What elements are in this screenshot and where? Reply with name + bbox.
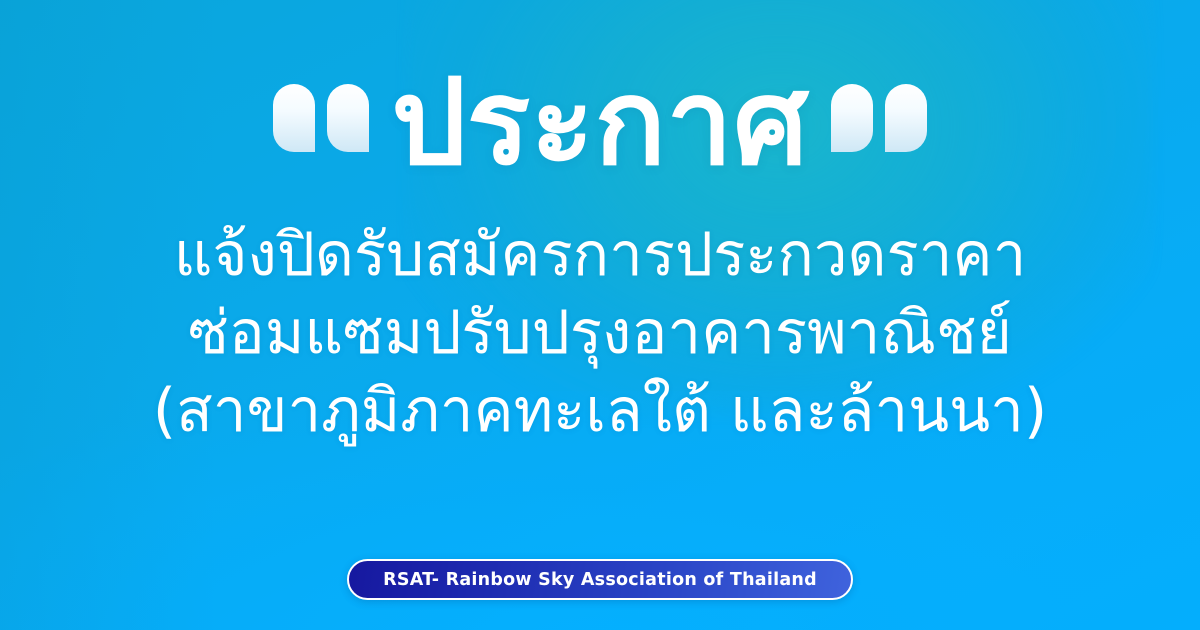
close-quote-icon <box>831 84 927 152</box>
subtitle-line-1: แจ้งปิดรับสมัครการประกวดราคา <box>153 216 1048 294</box>
close-quote-mark-second <box>885 84 927 152</box>
close-quote-mark-first <box>831 84 873 152</box>
open-quote-mark-first <box>273 84 315 152</box>
open-quote-icon <box>273 84 369 152</box>
badge-container: RSAT- Rainbow Sky Association of Thailan… <box>347 559 853 600</box>
open-quote-mark-second <box>327 84 369 152</box>
headline-row: ประกาศ <box>273 62 926 182</box>
page-title: ประกาศ <box>391 62 808 182</box>
subtitle-line-3: (สาขาภูมิภาคทะเลใต้ และล้านนา) <box>153 372 1048 450</box>
announcement-banner: ประกาศ แจ้งปิดรับสมัครการประกวดราคา ซ่อม… <box>0 0 1200 630</box>
organization-name: RSAT- Rainbow Sky Association of Thailan… <box>383 570 817 590</box>
subtitle-line-2: ซ่อมแซมปรับปรุงอาคารพาณิชย์ <box>153 294 1048 372</box>
banner-content: ประกาศ แจ้งปิดรับสมัครการประกวดราคา ซ่อม… <box>0 0 1200 630</box>
subtitle-block: แจ้งปิดรับสมัครการประกวดราคา ซ่อมแซมปรับ… <box>153 216 1048 450</box>
organization-badge: RSAT- Rainbow Sky Association of Thailan… <box>347 559 853 600</box>
